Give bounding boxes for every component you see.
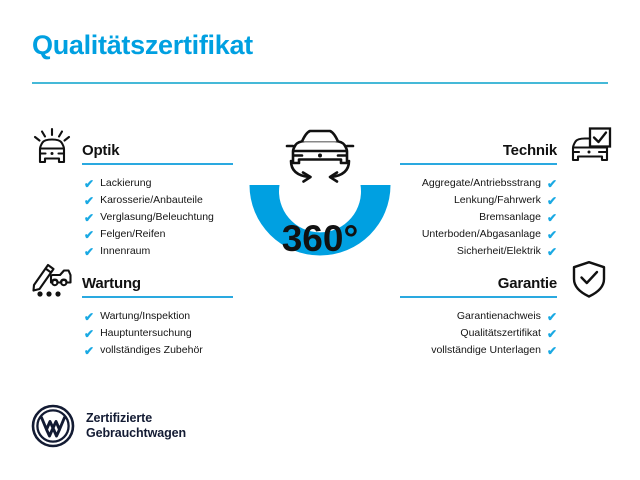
section-technik-list: ✔Aggregate/Antriebsstrang ✔Lenkung/Fahrw… — [398, 175, 613, 260]
list-item: ✔Wartung/Inspektion — [28, 308, 243, 325]
list-item: ✔Unterboden/Abgasanlage — [398, 226, 613, 243]
shield-check-icon — [565, 259, 613, 299]
check-icon: ✔ — [547, 229, 557, 241]
section-garantie-title: Garantie — [498, 275, 557, 292]
section-wartung-list: ✔Wartung/Inspektion ✔Hauptuntersuchung ✔… — [28, 308, 243, 359]
list-item: ✔Garantienachweis — [398, 308, 613, 325]
title-divider — [32, 82, 608, 84]
list-item-label: Verglasung/Beleuchtung — [100, 209, 214, 226]
list-item: ✔Lackierung — [28, 175, 243, 192]
list-item-label: Bremsanlage — [479, 209, 541, 226]
check-icon: ✔ — [547, 345, 557, 357]
check-icon: ✔ — [84, 246, 94, 258]
section-optik-divider — [82, 163, 233, 165]
list-item-label: Wartung/Inspektion — [100, 308, 190, 325]
list-item: ✔vollständiges Zubehör — [28, 342, 243, 359]
footer-logo-block: Zertifizierte Gebrauchtwagen — [31, 404, 186, 448]
section-optik-list: ✔Lackierung ✔Karosserie/Anbauteile ✔Verg… — [28, 175, 243, 260]
car-rotate-icon — [287, 131, 353, 182]
section-wartung-title: Wartung — [82, 275, 141, 292]
section-garantie: Garantie ✔Garantienachweis ✔Qualitätszer… — [398, 259, 613, 359]
section-technik-header: Technik — [398, 126, 613, 168]
list-item: ✔Innenraum — [28, 243, 243, 260]
list-item-label: Felgen/Reifen — [100, 226, 165, 243]
section-garantie-list: ✔Garantienachweis ✔Qualitätszertifikat ✔… — [398, 308, 613, 359]
footer-logo-text: Zertifizierte Gebrauchtwagen — [86, 411, 186, 441]
list-item: ✔Hauptuntersuchung — [28, 325, 243, 342]
list-item-label: Karosserie/Anbauteile — [100, 192, 203, 209]
section-optik: Optik ✔Lackierung ✔Karosserie/Anbauteile… — [28, 126, 243, 260]
list-item-label: Unterboden/Abgasanlage — [422, 226, 541, 243]
check-icon: ✔ — [547, 212, 557, 224]
check-icon: ✔ — [84, 311, 94, 323]
check-icon: ✔ — [84, 178, 94, 190]
section-technik: Technik ✔Aggregate/Antriebsstrang ✔Lenku… — [398, 126, 613, 260]
list-item: ✔Felgen/Reifen — [28, 226, 243, 243]
list-item: ✔Sicherheit/Elektrik — [398, 243, 613, 260]
list-item: ✔Qualitätszertifikat — [398, 325, 613, 342]
list-item: ✔Karosserie/Anbauteile — [28, 192, 243, 209]
list-item-label: Hauptuntersuchung — [100, 325, 192, 342]
check-icon: ✔ — [84, 328, 94, 340]
badge-center-label: 360° — [282, 218, 359, 259]
section-technik-divider — [400, 163, 557, 165]
list-item-label: vollständiges Zubehör — [100, 342, 203, 359]
car-service-pen-icon — [28, 259, 76, 299]
car-front-lights-icon — [28, 126, 76, 166]
list-item-label: Qualitätszertifikat — [460, 325, 541, 342]
section-technik-title: Technik — [503, 142, 557, 159]
list-item: ✔Verglasung/Beleuchtung — [28, 209, 243, 226]
check-icon: ✔ — [84, 345, 94, 357]
section-wartung-divider — [82, 296, 233, 298]
check-icon: ✔ — [84, 229, 94, 241]
list-item: ✔Aggregate/Antriebsstrang — [398, 175, 613, 192]
badge-360-gebrauchtwagen-check: 360° Gebrauchtwagen-Check — [235, 123, 405, 311]
check-icon: ✔ — [547, 178, 557, 190]
certificate-page: Qualitätszertifikat — [0, 0, 640, 480]
section-optik-title: Optik — [82, 142, 119, 159]
check-icon: ✔ — [84, 212, 94, 224]
list-item-label: Garantienachweis — [457, 308, 541, 325]
list-item-label: Sicherheit/Elektrik — [457, 243, 541, 260]
check-icon: ✔ — [547, 328, 557, 340]
list-item: ✔Bremsanlage — [398, 209, 613, 226]
list-item-label: Lackierung — [100, 175, 151, 192]
section-wartung: Wartung ✔Wartung/Inspektion ✔Hauptunters… — [28, 259, 243, 359]
check-icon: ✔ — [84, 195, 94, 207]
section-garantie-header: Garantie — [398, 259, 613, 301]
vw-logo-icon — [31, 404, 75, 448]
list-item-label: Aggregate/Antriebsstrang — [422, 175, 541, 192]
footer-line-1: Zertifizierte — [86, 411, 152, 425]
check-icon: ✔ — [547, 246, 557, 258]
car-checkbox-icon — [565, 126, 613, 166]
list-item: ✔Lenkung/Fahrwerk — [398, 192, 613, 209]
check-icon: ✔ — [547, 195, 557, 207]
section-wartung-header: Wartung — [28, 259, 243, 301]
section-garantie-divider — [400, 296, 557, 298]
check-icon: ✔ — [547, 311, 557, 323]
list-item-label: Lenkung/Fahrwerk — [454, 192, 541, 209]
footer-line-2: Gebrauchtwagen — [86, 426, 186, 440]
list-item: ✔vollständige Unterlagen — [398, 342, 613, 359]
list-item-label: vollständige Unterlagen — [431, 342, 541, 359]
list-item-label: Innenraum — [100, 243, 150, 260]
page-title: Qualitätszertifikat — [32, 30, 253, 61]
section-optik-header: Optik — [28, 126, 243, 168]
